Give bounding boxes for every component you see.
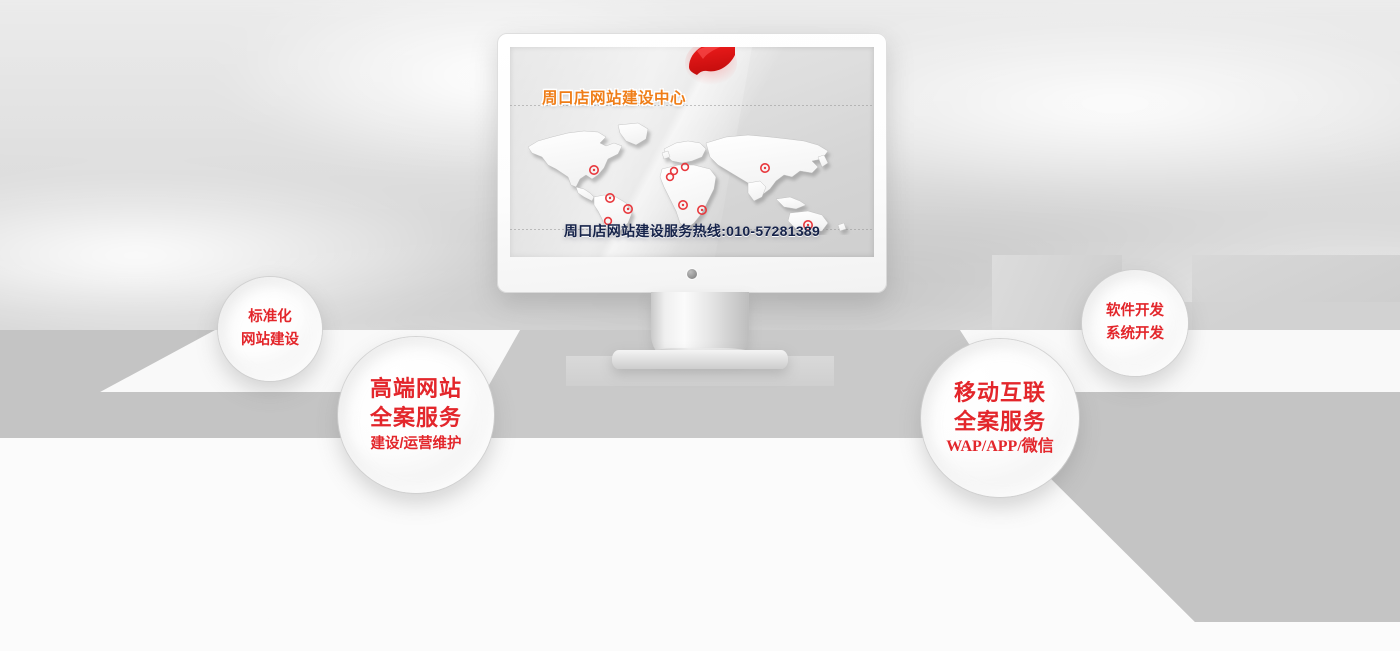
monitor: 周口店网站建设中心 周口店网站建设服务热线:010-57281389	[497, 33, 887, 293]
landmass-japan	[818, 155, 828, 167]
landmass-central-america	[576, 187, 594, 201]
circle-2-line-2: 全案服务	[370, 405, 462, 431]
circle-4-line-1: 软件开发	[1106, 303, 1164, 320]
landmass-southeast-asia	[776, 197, 806, 209]
circle-mobile-internet-full-service[interactable]: 移动互联 全案服务 WAP/APP/微信	[921, 339, 1079, 497]
wedge-upper-left	[0, 330, 215, 392]
world-map-3d	[522, 113, 862, 235]
webcam-dot	[687, 269, 697, 279]
circle-2-line-1: 高端网站	[370, 376, 462, 402]
circle-software-system-development[interactable]: 软件开发 系统开发	[1082, 270, 1188, 376]
circle-standard-website-construction[interactable]: 标准化 网站建设	[218, 277, 322, 381]
red-ribbon-pin	[683, 47, 739, 89]
banner-stage: 周口店网站建设中心 周口店网站建设服务热线:010-57281389 标准化 网…	[0, 0, 1400, 651]
landmass-greenland	[618, 123, 648, 145]
screen-hotline: 周口店网站建设服务热线:010-57281389	[510, 221, 874, 241]
circle-3-line-1: 移动互联	[954, 380, 1046, 406]
monitor-stand-base	[612, 350, 788, 369]
circle-2-line-3: 建设/运营维护	[370, 436, 461, 453]
circle-4-line-2: 系统开发	[1106, 326, 1164, 343]
circle-3-line-2: 全案服务	[954, 409, 1046, 435]
monitor-stand-neck	[651, 292, 749, 356]
monitor-screen: 周口店网站建设中心 周口店网站建设服务热线:010-57281389	[510, 47, 874, 257]
wedge-bottom-full-white	[0, 622, 1400, 651]
circle-3-line-3: WAP/APP/微信	[946, 438, 1054, 457]
landmass-north-america	[528, 131, 622, 187]
screen-title: 周口店网站建设中心	[542, 86, 686, 108]
circle-1-line-1: 标准化	[248, 309, 292, 326]
landmass-europe	[664, 141, 706, 163]
circle-1-line-2: 网站建设	[241, 332, 299, 349]
circle-high-end-website-full-service[interactable]: 高端网站 全案服务 建设/运营维护	[338, 337, 494, 493]
